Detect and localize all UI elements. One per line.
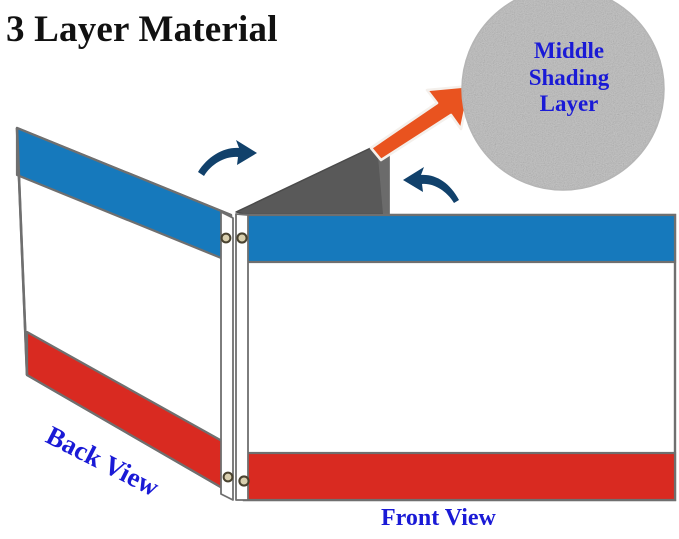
fold-arrow-right-icon: [403, 167, 459, 203]
swatch-caption-line-1: Middle: [494, 38, 644, 65]
shading-layer-surface: [236, 145, 389, 214]
page-title: 3 Layer Material: [6, 8, 278, 51]
front-view-panel: [244, 215, 675, 500]
grommet-top-right: [237, 233, 246, 242]
callout-arrow-icon: [371, 86, 470, 160]
front-view-label: Front View: [381, 505, 496, 532]
swatch-caption: Middle Shading Layer: [494, 38, 644, 118]
grommet-top-left: [222, 234, 231, 243]
header-strip-right-face: [236, 214, 248, 500]
swatch-caption-line-2: Shading: [494, 65, 644, 92]
grommet-bottom-left: [224, 473, 233, 482]
header-strip-left-face: [221, 212, 233, 500]
grommet-header-strip: [221, 212, 249, 500]
front-panel-red-band: [244, 453, 675, 500]
swatch-caption-line-3: Layer: [494, 91, 644, 118]
illustration-canvas: 3 Layer Material Middle Shading Layer Ba…: [0, 0, 679, 539]
middle-shading-layer-wedge: [236, 145, 389, 214]
front-panel-blue-band: [244, 215, 675, 262]
fold-arrow-left-icon: [198, 140, 257, 176]
grommet-bottom-right: [239, 476, 248, 485]
